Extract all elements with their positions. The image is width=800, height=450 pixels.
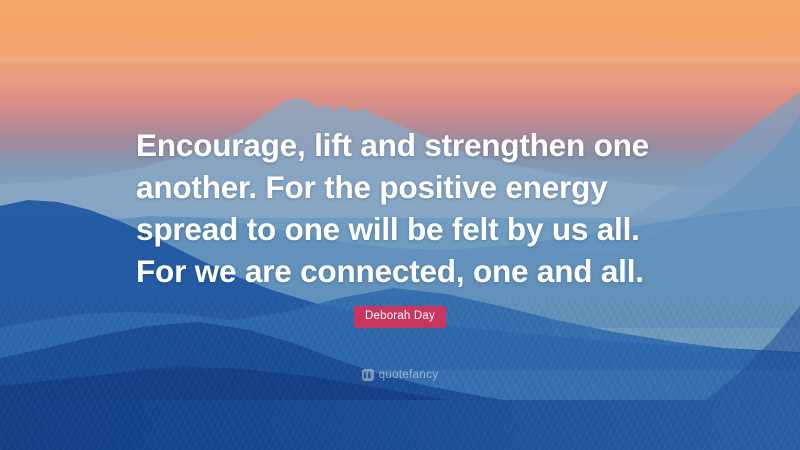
quote-poster: Encourage, lift and strengthen one anoth…	[0, 0, 800, 450]
author-badge-container: Deborah Day	[0, 306, 800, 328]
quote-line-3: spread to one will be felt by us all.	[136, 208, 664, 250]
watermark: quotefancy	[0, 366, 800, 384]
quote-lines: Encourage, lift and strengthen one anoth…	[136, 124, 664, 292]
quote-mark-icon	[362, 369, 374, 381]
quote-line-2: another. For the positive energy	[136, 166, 664, 208]
quote-line-1: Encourage, lift and strengthen one	[136, 124, 664, 166]
foreground-base-fill	[0, 400, 800, 450]
quote-line-4: For we are connected, one and all.	[136, 250, 664, 292]
author-name-badge[interactable]: Deborah Day	[354, 306, 446, 328]
watermark-brand-label: quotefancy	[379, 369, 439, 381]
watermark-inner[interactable]: quotefancy	[362, 369, 439, 381]
cloud-streak-upper	[0, 54, 800, 64]
quote-text-block: Encourage, lift and strengthen one anoth…	[0, 124, 800, 292]
